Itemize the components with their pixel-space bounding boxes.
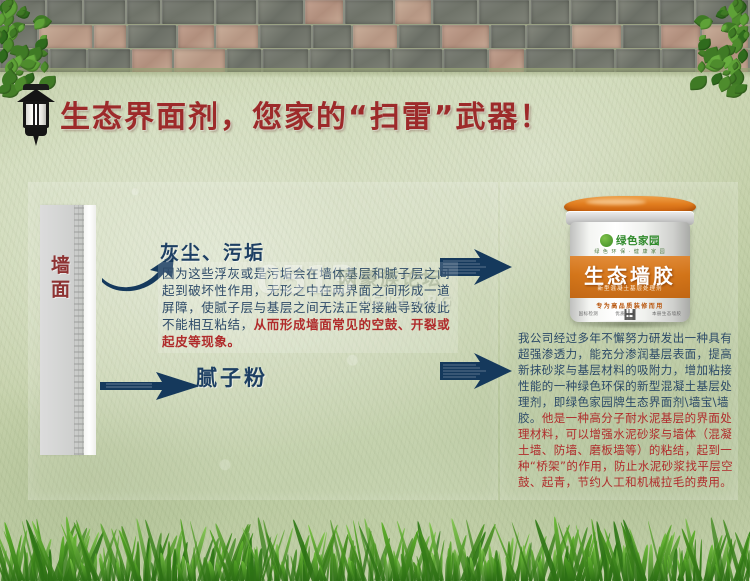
wall-cross-section-diagram xyxy=(40,205,98,455)
brick xyxy=(395,0,431,24)
poster-canvas: 生态界面剂，您家的“扫雷”武器！ 墙面 灰尘、污垢 因为 xyxy=(0,0,750,581)
product-sub-top: 新型混凝土基层处理剂 xyxy=(570,284,690,292)
brick xyxy=(572,25,621,49)
ivy-leaf xyxy=(735,83,748,94)
brand-logo-mark-icon xyxy=(600,234,613,247)
brick xyxy=(696,0,748,24)
brick xyxy=(47,0,82,24)
brand-slogan: 绿 色 环 保 · 健 康 家 园 xyxy=(594,248,665,255)
putty-layer xyxy=(84,205,96,455)
brick xyxy=(479,0,529,24)
brick xyxy=(531,0,569,24)
brick xyxy=(305,0,343,24)
brick xyxy=(571,0,616,24)
stone-brick-wall-border xyxy=(0,0,750,72)
product-description-accent: 他是一种高分子耐水泥基层的界面处理材料，可以增强水泥砂浆与墙体（混凝土墙、防墙、… xyxy=(518,411,733,489)
arrow-right-bottom-icon xyxy=(440,352,512,390)
brick xyxy=(399,25,440,49)
brick xyxy=(618,0,658,24)
brick xyxy=(345,0,393,24)
brick xyxy=(162,0,214,24)
lantern-icon xyxy=(14,84,58,146)
brick xyxy=(258,0,303,24)
bucket-shadow xyxy=(578,320,682,329)
brick xyxy=(442,25,490,49)
brick xyxy=(623,25,659,49)
brick xyxy=(94,25,126,49)
product-description-paragraph: 我公司经过多年不懈努力研发出一种具有超强渗透力，能充分渗润基层表面，提高新抹砂浆… xyxy=(518,330,740,490)
qr-code-icon xyxy=(625,309,636,320)
straight-arrow-to-putty-icon xyxy=(100,370,200,402)
brick xyxy=(39,25,92,49)
brick xyxy=(313,25,350,49)
brick xyxy=(260,25,311,49)
brick xyxy=(127,0,160,24)
brick xyxy=(178,25,214,49)
brick xyxy=(128,25,176,49)
brick xyxy=(353,25,397,49)
brick xyxy=(216,0,256,24)
bucket-foot-label-3: 本册生态墙胶 xyxy=(652,311,681,317)
grass-decoration-bottom xyxy=(0,503,750,581)
putty-heading: 腻子粉 xyxy=(196,362,268,392)
ivy-leaf xyxy=(0,83,11,94)
brick xyxy=(0,25,37,49)
grass-blade xyxy=(699,539,702,581)
ivy-leaf xyxy=(690,76,707,91)
dust-heading: 灰尘、污垢 xyxy=(160,238,265,265)
brick xyxy=(702,25,748,49)
brick xyxy=(216,25,259,49)
brand-logo: 绿色家园 xyxy=(600,233,660,248)
brick xyxy=(0,0,45,24)
wall-surface-label: 墙面 xyxy=(46,255,73,303)
dust-paragraph: 因为这些浮灰或是污垢会在墙体基层和腻子层之间起到破坏性作用，无形之中在两界面之间… xyxy=(158,262,458,353)
brick xyxy=(491,25,525,49)
brick xyxy=(527,25,570,49)
ivy-leaf xyxy=(726,83,744,99)
poster-title: 生态界面剂，您家的“扫雷”武器！ xyxy=(60,88,620,140)
product-bucket-image: 绿色家园 绿 色 环 保 · 健 康 家 园 生态墙胶 新型混凝土基层处理剂 专… xyxy=(560,196,700,324)
brick xyxy=(660,0,695,24)
bucket-foot-label-1: 国标检测 xyxy=(579,311,599,317)
brand-logo-text: 绿色家园 xyxy=(616,233,660,248)
wall-base-shadow xyxy=(0,68,750,78)
brick xyxy=(433,0,476,24)
brick xyxy=(661,25,700,49)
bucket-body: 绿色家园 绿 色 环 保 · 健 康 家 园 生态墙胶 新型混凝土基层处理剂 专… xyxy=(570,222,690,322)
brick xyxy=(84,0,126,24)
